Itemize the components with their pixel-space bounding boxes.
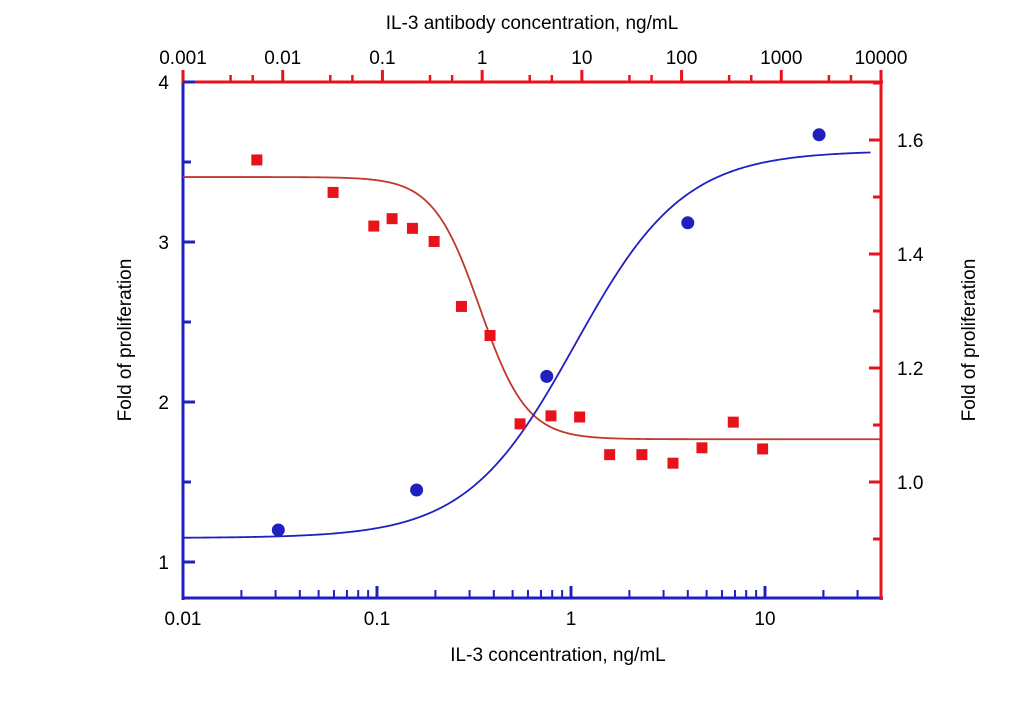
data-point-marker: [515, 418, 526, 429]
left-axis-ticks: [183, 82, 195, 562]
tick-label: 0.01: [264, 48, 301, 69]
data-point-marker: [251, 154, 262, 165]
bottom-axis-title: IL-3 concentration, ng/mL: [450, 645, 665, 666]
top-axis-ticks: [183, 70, 881, 82]
figure-container: 0.0010.010.1110100100010000 0.010.1110 4…: [0, 0, 1024, 715]
tick-label: 1.2: [897, 359, 923, 380]
data-point-marker: [757, 443, 768, 454]
data-point-marker: [813, 128, 826, 141]
data-point-marker: [328, 187, 339, 198]
blue-fit-curve: [183, 152, 871, 537]
data-point-marker: [696, 442, 707, 453]
data-point-marker: [456, 301, 467, 312]
tick-label: 0.001: [159, 48, 207, 69]
tick-label: 1000: [760, 48, 802, 69]
data-point-marker: [387, 213, 398, 224]
tick-label: 10: [571, 48, 592, 69]
tick-label: 1.6: [897, 131, 923, 152]
data-point-marker: [681, 216, 694, 229]
data-point-marker: [429, 236, 440, 247]
tick-label: 10000: [855, 48, 908, 69]
tick-label: 4: [158, 73, 169, 94]
tick-label: 1.0: [897, 473, 923, 494]
data-point-marker: [368, 221, 379, 232]
tick-label: 1: [477, 48, 488, 69]
bottom-axis-ticks: [183, 586, 858, 598]
tick-label: 0.1: [364, 609, 390, 630]
plot-frame: [182, 80, 883, 600]
tick-label: 3: [158, 233, 169, 254]
blue-data-points: [272, 128, 826, 536]
data-point-marker: [574, 412, 585, 423]
data-point-marker: [540, 370, 553, 383]
tick-label: 1: [566, 609, 577, 630]
red-fit-curve: [183, 177, 881, 439]
data-point-marker: [604, 449, 615, 460]
tick-label: 2: [158, 393, 169, 414]
top-axis-title: IL-3 antibody concentration, ng/mL: [386, 13, 679, 34]
data-point-marker: [545, 410, 556, 421]
tick-label: 100: [666, 48, 698, 69]
data-point-marker: [485, 330, 496, 341]
right-axis-tick-labels: 1.61.41.21.0: [897, 131, 924, 494]
tick-label: 10: [754, 609, 775, 630]
data-point-marker: [410, 484, 423, 497]
tick-label: 0.01: [165, 609, 202, 630]
left-axis-tick-labels: 4321: [158, 73, 169, 574]
right-axis-ticks: [869, 83, 881, 539]
data-point-marker: [728, 417, 739, 428]
bottom-axis-tick-labels: 0.010.1110: [165, 609, 776, 630]
data-point-marker: [636, 449, 647, 460]
left-axis-title: Fold of proliferation: [115, 259, 136, 422]
top-axis-tick-labels: 0.0010.010.1110100100010000: [159, 48, 907, 69]
tick-label: 1.4: [897, 245, 924, 266]
data-point-marker: [407, 223, 418, 234]
data-point-marker: [272, 524, 285, 537]
chart-plot: 0.0010.010.1110100100010000 0.010.1110 4…: [0, 0, 1024, 715]
tick-label: 1: [158, 553, 169, 574]
right-axis-title: Fold of proliferation: [959, 259, 980, 422]
red-data-points: [251, 154, 768, 468]
tick-label: 0.1: [369, 48, 395, 69]
data-point-marker: [667, 458, 678, 469]
